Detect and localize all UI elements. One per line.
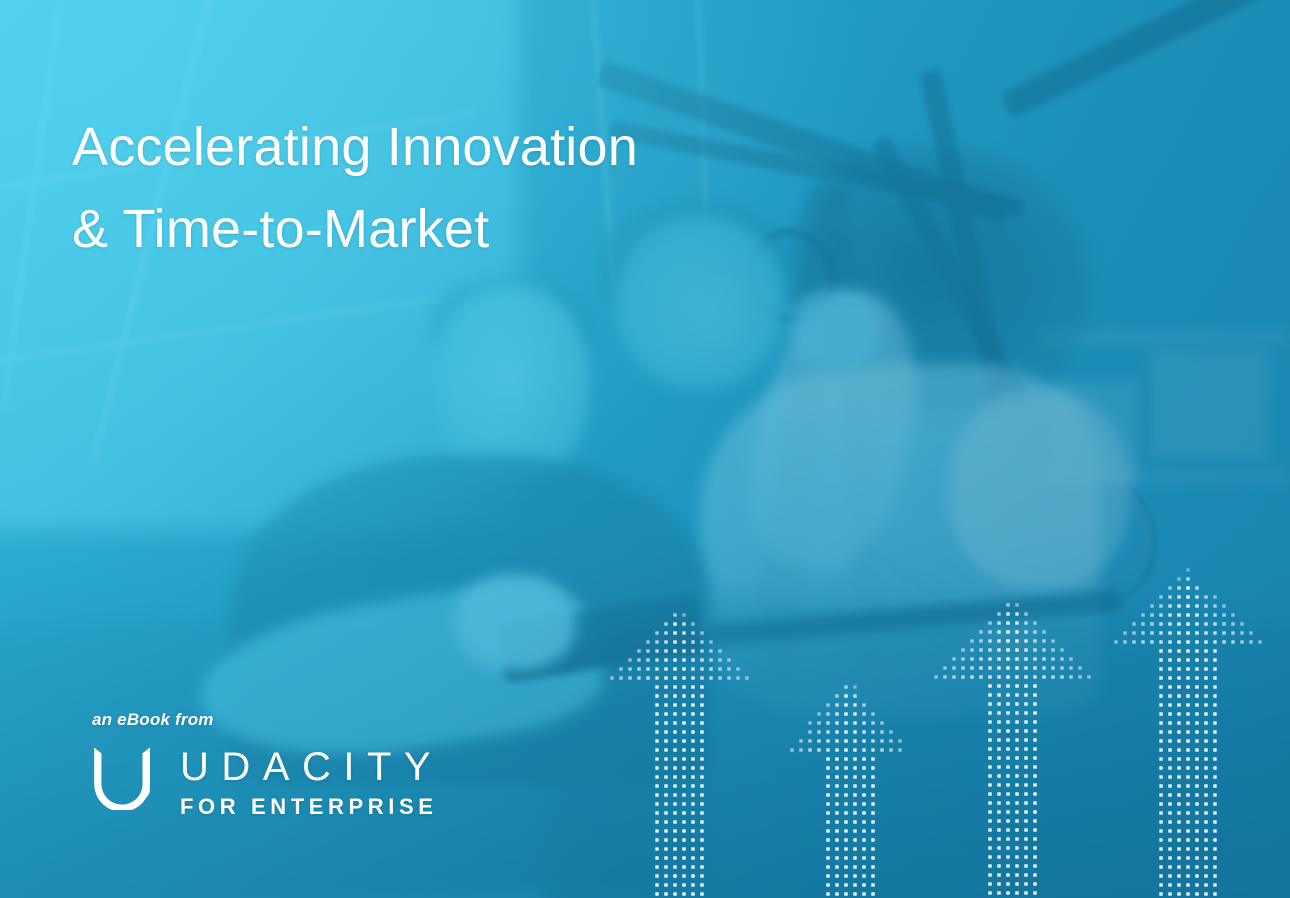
wordmark: UDACITY FOR ENTERPRISE (180, 742, 443, 821)
udacity-u-logo-icon (90, 744, 154, 810)
page-title: Accelerating Innovation & Time-to-Market (72, 106, 638, 270)
eyebrow-label: an eBook from (92, 710, 443, 730)
brand-block: an eBook from UDACITY FOR ENTERPRISE (90, 710, 443, 821)
brand-name: UDACITY (180, 745, 443, 789)
ebook-cover: Accelerating Innovation & Time-to-Market… (0, 0, 1290, 898)
brand-tagline: FOR ENTERPRISE (180, 793, 443, 821)
logo-row: UDACITY FOR ENTERPRISE (90, 742, 443, 821)
